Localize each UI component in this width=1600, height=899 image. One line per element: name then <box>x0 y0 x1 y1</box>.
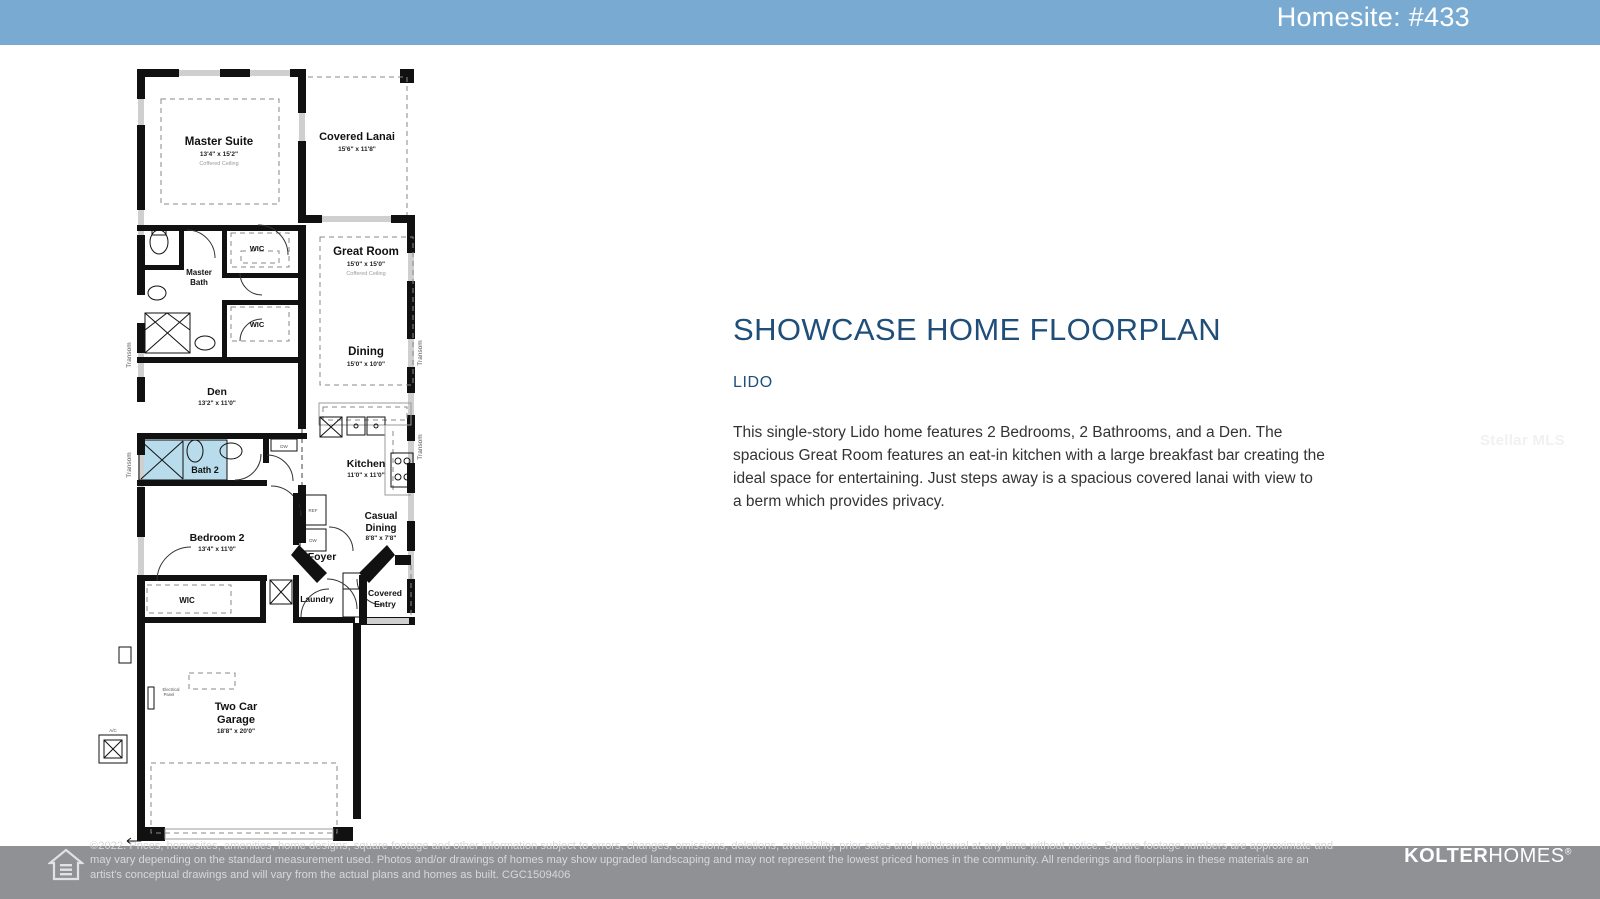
wall-bath2-right <box>263 433 269 463</box>
sink-master-2-icon <box>195 336 215 350</box>
pantry-label: DW <box>309 538 317 543</box>
floorplan-page: Homesite: #433 <box>0 0 1600 899</box>
wall-corridor-right <box>298 225 306 362</box>
shower-master-x <box>145 313 190 353</box>
wall-left-5 <box>137 377 145 402</box>
burner-1 <box>395 458 401 464</box>
room-label-casual-dining-line2: Dining <box>365 523 396 534</box>
wall-den-right <box>298 357 306 429</box>
room-dim-garage: 18'8" x 20'0" <box>217 728 255 735</box>
room-label-master-suite: Master Suite <box>185 136 253 148</box>
wall-foyer-right <box>359 575 367 623</box>
wall-mb-left <box>222 225 227 277</box>
wall-laundry-bottom <box>293 617 355 623</box>
wall-mb-right <box>222 300 227 362</box>
wall-bed2-right <box>298 485 306 543</box>
room-label-covered-entry-line1: Covered <box>368 588 402 598</box>
linen-label: DW <box>280 444 288 449</box>
wall-top-1 <box>137 69 179 77</box>
room-dim-master-suite: 13'4" x 15'2" <box>200 151 238 158</box>
room-label-wic-1: WIC <box>250 244 265 253</box>
logo-registered-mark: ® <box>1565 846 1572 856</box>
room-dim-dining: 15'0" x 10'0" <box>347 361 385 368</box>
wall-right-3 <box>407 367 415 393</box>
footer-disclaimer: ©2022. Prices, homesites, amenities, hom… <box>90 839 1340 882</box>
entry-opening <box>367 618 409 624</box>
wall-right-2 <box>407 281 415 339</box>
garage-attic-access <box>189 673 235 689</box>
kolter-homes-logo: KOLTERHOMES® <box>1404 845 1572 868</box>
wall-left-2 <box>137 125 145 210</box>
wall-left-8 <box>137 575 145 623</box>
ac-label: A/C <box>109 728 117 733</box>
room-label-laundry: Laundry <box>300 594 334 604</box>
window-left-3 <box>138 353 144 377</box>
toilet-master-icon <box>150 230 168 254</box>
ac-unit-x <box>104 740 122 758</box>
wall-wic2-top <box>222 300 306 305</box>
room-label-bath2: Bath 2 <box>191 465 219 475</box>
washer-x <box>270 580 292 604</box>
sp2 <box>137 357 141 361</box>
equal-housing-opportunity-icon <box>48 845 84 885</box>
room-sub-great-room: Coffered Ceiling <box>346 271 385 277</box>
room-label-master-bath-line2: Bath <box>190 278 208 287</box>
transom-label-left-lower: Transom <box>126 452 133 477</box>
wall-wic3-bottom <box>137 617 265 623</box>
wall-ref-left <box>293 493 299 545</box>
room-dim-bedroom2: 13'4" x 11'0" <box>198 546 236 553</box>
homesite-label: Homesite: #433 <box>1277 2 1470 33</box>
window-right-1 <box>408 253 414 281</box>
garage-parking-outline <box>151 763 337 833</box>
wall-left-4 <box>137 323 145 353</box>
ref-label: REF <box>309 508 318 513</box>
window-master-right <box>299 113 305 141</box>
wall-wic3-right <box>260 575 266 623</box>
wall-den-top <box>137 357 306 363</box>
wall-left-7 <box>137 487 145 537</box>
wall-wic1-bottom <box>222 273 306 278</box>
window-left-5 <box>138 537 144 575</box>
transom-label-left-upper: Transom <box>126 342 133 367</box>
transom-label-right-lower: Transom <box>417 434 424 459</box>
room-label-master-bath-line1: Master <box>186 268 212 277</box>
room-label-garage-line2: Garage <box>217 714 255 726</box>
door-pantry-swing <box>329 527 353 551</box>
wall-laundry-left <box>293 575 299 623</box>
room-label-garage-line1: Two Car <box>215 701 258 713</box>
wall-lanai-bottom-1 <box>298 215 322 223</box>
floorplan-drawing: DW <box>95 55 445 845</box>
room-label-dining: Dining <box>348 346 384 358</box>
door-master-bath-swing <box>187 230 215 258</box>
room-label-great-room: Great Room <box>333 246 399 258</box>
mls-watermark: Stellar MLS <box>1480 432 1565 449</box>
wall-master-right-1 <box>298 69 306 113</box>
info-panel: SHOWCASE HOME FLOORPLAN LIDO This single… <box>733 312 1353 514</box>
wall-top-2 <box>220 69 250 77</box>
room-label-covered-entry-line2: Entry <box>374 599 396 609</box>
wall-garage-right <box>353 623 361 819</box>
electrical-panel-icon <box>148 687 154 709</box>
wall-master-right-2 <box>298 141 306 223</box>
plan-name: LIDO <box>733 374 1353 392</box>
window-right-5 <box>408 493 414 521</box>
sink-master-1-icon <box>148 286 166 300</box>
room-sub-master-suite: Coffered Ceiling <box>199 161 238 167</box>
window-left-1 <box>138 99 144 125</box>
wall-right-1 <box>407 215 415 253</box>
plan-description: This single-story Lido home features 2 B… <box>733 422 1325 514</box>
room-label-den: Den <box>207 386 227 398</box>
room-label-kitchen: Kitchen <box>347 458 386 470</box>
wall-bath2-bottom <box>137 480 267 486</box>
room-dim-kitchen: 11'0" x 11'0" <box>347 472 384 479</box>
door-bath2-int-swing <box>235 454 261 480</box>
page-title: SHOWCASE HOME FLOORPLAN <box>733 312 1353 348</box>
burner-3 <box>395 474 401 480</box>
header-bar: Homesite: #433 <box>0 0 1600 45</box>
shower-master-angle <box>145 313 190 330</box>
room-dim-great-room: 15'0" x 15'0" <box>347 261 385 268</box>
electrical-panel-label-2: Panel <box>164 692 175 697</box>
window-top-1 <box>179 70 220 76</box>
wall-bed2-bottom <box>137 575 267 581</box>
garage-door <box>165 829 333 839</box>
room-dim-covered-lanai: 15'6" x 11'8" <box>338 146 376 153</box>
window-top-2 <box>250 70 290 76</box>
room-label-foyer: Foyer <box>308 551 337 563</box>
room-label-wic-2: WIC <box>250 320 265 329</box>
lanai-slider <box>322 216 391 222</box>
wall-right-5 <box>407 463 415 493</box>
wall-den-bottom <box>137 433 307 439</box>
window-left-2 <box>138 210 144 235</box>
room-dim-den: 13'2" x 11'0" <box>198 400 236 407</box>
door-bath2-swing <box>267 455 293 481</box>
logo-kolter: KOLTER <box>1404 845 1488 867</box>
wall-wc-bottom <box>137 265 184 270</box>
wall-wc-right <box>179 225 184 269</box>
room-label-covered-lanai: Covered Lanai <box>319 131 395 143</box>
room-dim-casual-dining: 8'8" x 7'8" <box>366 535 397 542</box>
room-label-wic-3: WIC <box>179 596 195 605</box>
room-label-bedroom2: Bedroom 2 <box>190 532 245 544</box>
transom-label-right-upper: Transom <box>417 340 424 365</box>
logo-homes: HOMES <box>1488 845 1564 867</box>
wall-garage-left <box>137 623 145 841</box>
meter-icon <box>119 647 131 663</box>
wall-right-6 <box>407 521 415 551</box>
wall-entry-post <box>395 555 411 565</box>
room-label-casual-dining-line1: Casual <box>365 511 398 522</box>
